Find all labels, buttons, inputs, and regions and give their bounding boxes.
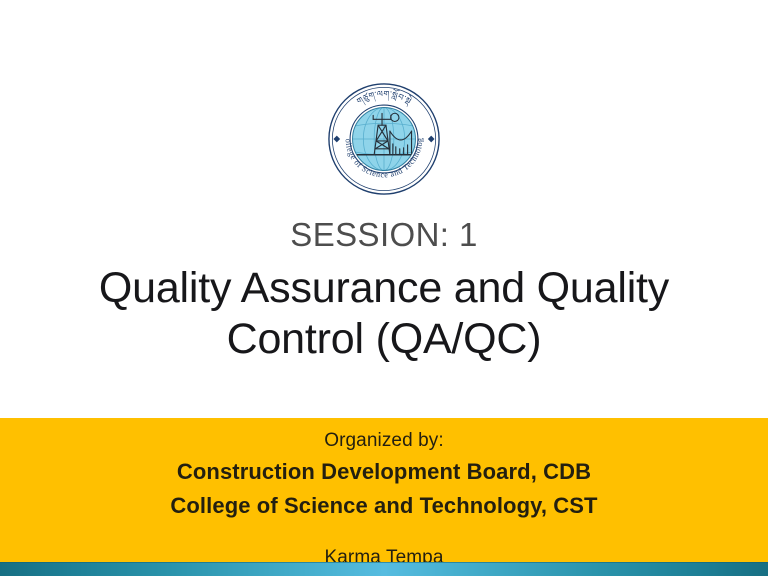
footer-accent-strip: [0, 562, 768, 576]
organizer-cdb: Construction Development Board, CDB: [0, 455, 768, 489]
footer-accent-strip-top-edge: [0, 562, 768, 563]
cst-college-logo-icon: གཙུག་ལག་སློབ་སྡེ College of Science and …: [325, 80, 443, 198]
organized-by-label: Organized by:: [0, 427, 768, 455]
page-title: Quality Assurance and Quality Control (Q…: [44, 263, 724, 365]
title-block: SESSION: 1 Quality Assurance and Quality…: [44, 214, 724, 365]
page-title-line-1: Quality Assurance and Quality: [44, 263, 724, 314]
logo-area: གཙུག་ལག་སློབ་སྡེ College of Science and …: [0, 78, 768, 200]
page-title-line-2: Control (QA/QC): [44, 314, 724, 365]
organizer-banner: Organized by: Construction Development B…: [0, 418, 768, 562]
organizer-cst: College of Science and Technology, CST: [0, 489, 768, 523]
session-label: SESSION: 1: [44, 214, 724, 256]
title-slide: གཙུག་ལག་སློབ་སྡེ College of Science and …: [0, 0, 768, 576]
